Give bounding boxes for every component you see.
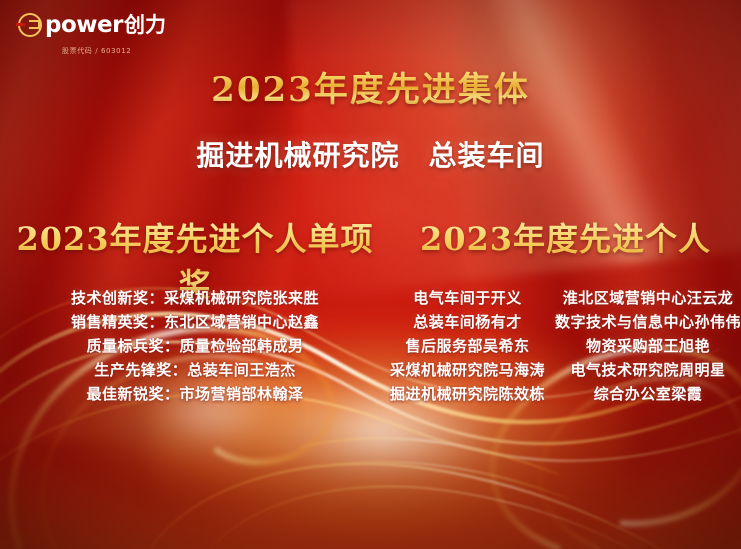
- individual-5a: 掘进机械研究院陈效栋: [380, 383, 555, 404]
- list-item: 质量标兵奖：质量检验部韩成男: [10, 333, 380, 357]
- list-item: 生产先锋奖：总装车间王浩杰: [10, 357, 380, 381]
- individual-3b: 物资采购部王旭艳: [555, 335, 741, 356]
- list-item: 总装车间杨有才 数字技术与信息中心孙伟伟: [380, 309, 741, 333]
- list-item: 最佳新锐奖：市场营销部林翰泽: [10, 381, 380, 405]
- list-item: 技术创新奖：采煤机械研究院张来胜: [10, 285, 380, 309]
- brand-wordmark: power: [45, 14, 123, 37]
- special-awards-column: 技术创新奖：采煤机械研究院张来胜 销售精英奖：东北区域营销中心赵鑫 质量标兵奖：…: [0, 285, 380, 405]
- special-award-5: 最佳新锐奖：市场营销部林翰泽: [86, 383, 303, 404]
- power-circle-logo-icon: [18, 13, 42, 37]
- special-award-1: 技术创新奖：采煤机械研究院张来胜: [71, 287, 319, 308]
- individual-2a: 总装车间杨有才: [380, 311, 555, 332]
- stock-code-label: 股票代码 / 603012: [62, 46, 218, 56]
- individual-1b: 淮北区域营销中心汪云龙: [555, 287, 741, 308]
- individual-4a: 采煤机械研究院马海涛: [380, 359, 555, 380]
- list-item: 电气车间于开义 淮北区域营销中心汪云龙: [380, 285, 741, 309]
- individual-5b: 综合办公室梁霞: [555, 383, 741, 404]
- individuals-column: 电气车间于开义 淮北区域营销中心汪云龙 总装车间杨有才 数字技术与信息中心孙伟伟…: [380, 285, 741, 405]
- award-lists: 技术创新奖：采煤机械研究院张来胜 销售精英奖：东北区域营销中心赵鑫 质量标兵奖：…: [0, 285, 741, 405]
- list-item: 售后服务部吴希东 物资采购部王旭艳: [380, 333, 741, 357]
- list-item: 销售精英奖：东北区域营销中心赵鑫: [10, 309, 380, 333]
- individual-2b: 数字技术与信息中心孙伟伟: [555, 311, 741, 332]
- page-title: 2023年度先进集体: [0, 62, 741, 111]
- individual-3a: 售后服务部吴希东: [380, 335, 555, 356]
- poster-content: power 创力 股票代码 / 603012 2023年度先进集体 掘进机械研究…: [0, 0, 741, 549]
- special-award-4: 生产先锋奖：总装车间王浩杰: [94, 359, 296, 380]
- page-subtitle: 掘进机械研究院 总装车间: [0, 134, 741, 174]
- list-item: 采煤机械研究院马海涛 电气技术研究院周明星: [380, 357, 741, 381]
- individual-1a: 电气车间于开义: [380, 287, 555, 308]
- award-poster: power 创力 股票代码 / 603012 2023年度先进集体 掘进机械研究…: [0, 0, 741, 549]
- list-item: 掘进机械研究院陈效栋 综合办公室梁霞: [380, 381, 741, 405]
- brand-logo: power 创力 股票代码 / 603012: [18, 10, 218, 56]
- special-award-3: 质量标兵奖：质量检验部韩成男: [86, 335, 303, 356]
- special-award-2: 销售精英奖：东北区域营销中心赵鑫: [71, 311, 319, 332]
- brand-wordmark-cn: 创力: [124, 15, 166, 36]
- individual-4b: 电气技术研究院周明星: [555, 359, 741, 380]
